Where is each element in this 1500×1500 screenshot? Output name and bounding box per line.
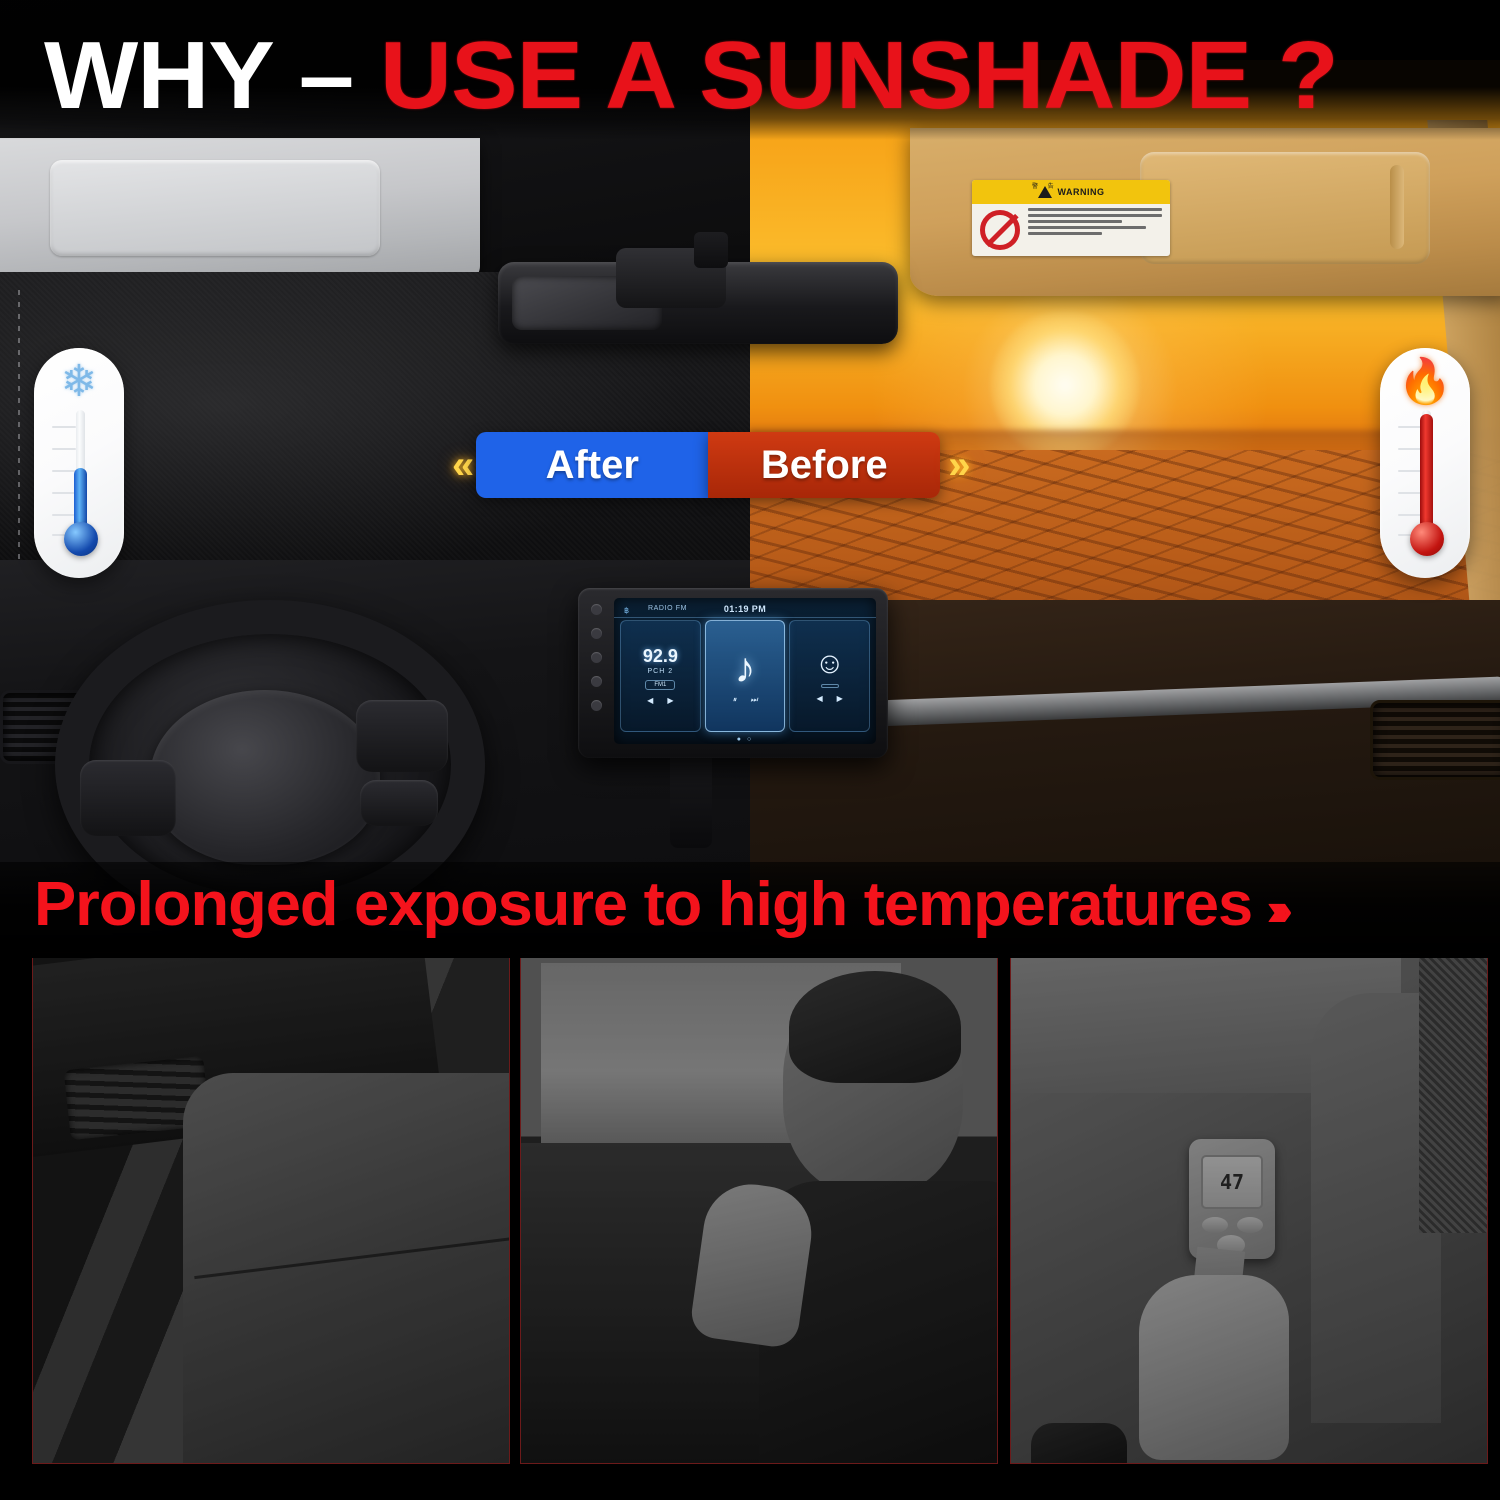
- mirror-mount-stem: [694, 232, 728, 268]
- no-child-seat-icon: [980, 210, 1020, 250]
- radio-source-label: RADIO FM: [648, 605, 687, 612]
- infrared-thermometer: 47: [1189, 1139, 1275, 1259]
- head-unit-mount: [670, 752, 712, 848]
- sun-visor-left: [0, 138, 480, 286]
- before-after-scene: WARNING 警 告: [0, 0, 1500, 950]
- snowflake-icon: ❄: [34, 360, 124, 404]
- before-after-toggle[interactable]: « After Before »: [452, 432, 965, 498]
- head-unit-status-bar: ฿ RADIO FM 01:19 PM: [614, 601, 876, 618]
- thermometer-button-left: [1202, 1217, 1228, 1233]
- radio-prev-icon[interactable]: ◀: [647, 696, 653, 705]
- warning-label-body-text: [1028, 208, 1162, 238]
- volume-knob-icon[interactable]: [591, 628, 602, 639]
- header-bar: WHY – USE A SUNSHADE ?: [0, 0, 1500, 140]
- power-button-icon[interactable]: [591, 604, 602, 615]
- thermometer-reading: 47: [1220, 1170, 1244, 1194]
- steering-control-left: [80, 760, 176, 836]
- page-indicator-dots[interactable]: ● ○: [614, 736, 876, 743]
- photo-car-interior-dashboard: [33, 953, 509, 1463]
- radio-band: PCH 2: [648, 668, 674, 675]
- home-button-icon[interactable]: [591, 676, 602, 687]
- seat-mesh-trim: [1419, 953, 1488, 1233]
- radio-controls[interactable]: ◀ ▶: [647, 696, 673, 705]
- wristwatch: [1031, 1423, 1127, 1464]
- media-card[interactable]: ♪ ⏸ ⏭: [705, 620, 786, 732]
- product-infographic: WARNING 警 告: [0, 0, 1500, 1500]
- sunshade-stitching: [18, 290, 20, 580]
- head-unit-side-buttons[interactable]: [584, 604, 608, 711]
- steering-wheel-airbag-hub: [150, 690, 380, 865]
- contact-person-icon: ☺: [814, 649, 845, 679]
- phone-controls[interactable]: ◀ ▶: [817, 694, 843, 703]
- thermometer-bulb-hot: [1410, 522, 1444, 556]
- benefits-panel-row: ⚡ ⚡ ⚡: [0, 950, 1500, 1500]
- media-pause-icon[interactable]: ⏸: [732, 695, 736, 705]
- before-badge[interactable]: Before: [708, 432, 940, 498]
- radio-next-icon[interactable]: ▶: [667, 696, 673, 705]
- subheadline-text: Prolonged exposure to high temperatures: [34, 870, 1252, 939]
- chevron-left-icon: «: [452, 445, 468, 485]
- infotainment-head-unit: ฿ RADIO FM 01:19 PM 92.9 PCH 2 FM1 ◀ ▶: [578, 588, 888, 758]
- panel-seat-temperature: 47: [1010, 952, 1488, 1464]
- phone-call-chip[interactable]: [821, 684, 839, 688]
- thermometer-cool: ❄: [34, 348, 124, 578]
- panel-interior-aging: [32, 952, 510, 1464]
- head-unit-screen[interactable]: ฿ RADIO FM 01:19 PM 92.9 PCH 2 FM1 ◀ ▶: [614, 598, 876, 744]
- warning-label-text: WARNING: [1058, 188, 1105, 197]
- warning-label-header: WARNING 警 告: [972, 180, 1170, 204]
- back-button-icon[interactable]: [591, 700, 602, 711]
- phone-card[interactable]: ☺ ◀ ▶: [789, 620, 870, 732]
- thermometer-bulb-cool: [64, 522, 98, 556]
- photo-man-covering-nose: [521, 953, 997, 1463]
- bluetooth-icon: ฿: [624, 606, 629, 615]
- air-vent-right: [1370, 700, 1500, 780]
- after-badge[interactable]: After: [476, 432, 708, 498]
- subheadline-arrows-icon: ›››: [1266, 883, 1282, 935]
- airbag-warning-label: WARNING 警 告: [972, 180, 1170, 256]
- media-controls[interactable]: ⏸ ⏭: [732, 695, 757, 705]
- flame-icon: 🔥: [1380, 360, 1470, 404]
- phone-next-icon[interactable]: ▶: [837, 694, 843, 703]
- subheadline: Prolonged exposure to high temperatures›…: [34, 874, 1283, 936]
- warning-label-cn: 警 告: [1032, 181, 1058, 190]
- steering-control-right: [356, 700, 448, 772]
- clock-label: 01:19 PM: [724, 604, 766, 614]
- page-title: WHY – USE A SUNSHADE ?: [44, 28, 1500, 124]
- thermometer-lcd: 47: [1201, 1155, 1263, 1209]
- rearview-mirror: [498, 262, 898, 344]
- thermometer-hot: 🔥: [1380, 348, 1470, 578]
- radio-frequency: 92.9: [643, 647, 678, 665]
- chevron-right-icon: »: [948, 445, 964, 485]
- photo-ir-thermometer-on-seat: 47: [1011, 953, 1487, 1463]
- thermometer-button-right: [1237, 1217, 1263, 1233]
- seat-shape: [183, 1073, 510, 1464]
- radio-card[interactable]: 92.9 PCH 2 FM1 ◀ ▶: [620, 620, 701, 732]
- visor-mirror-cover-right: [1140, 152, 1430, 264]
- media-skip-icon[interactable]: ⏭: [750, 695, 757, 705]
- head-unit-cards: 92.9 PCH 2 FM1 ◀ ▶ ♪ ⏸ ⏭: [620, 620, 870, 732]
- radio-preset-chip[interactable]: FM1: [645, 680, 675, 690]
- phone-prev-icon[interactable]: ◀: [817, 694, 823, 703]
- panel-unpleasant-odor: [520, 952, 998, 1464]
- hand-holding-thermometer: [1139, 1275, 1289, 1460]
- page-title-red: USE A SUNSHADE ?: [380, 22, 1338, 129]
- page-title-white: WHY –: [44, 22, 380, 129]
- visor-clip-right: [1390, 165, 1404, 249]
- visor-clip-left: [58, 170, 74, 244]
- menu-button-icon[interactable]: [591, 652, 602, 663]
- person-hair: [789, 971, 961, 1083]
- music-note-icon: ♪: [735, 647, 756, 689]
- steering-control-right-lower: [360, 780, 438, 826]
